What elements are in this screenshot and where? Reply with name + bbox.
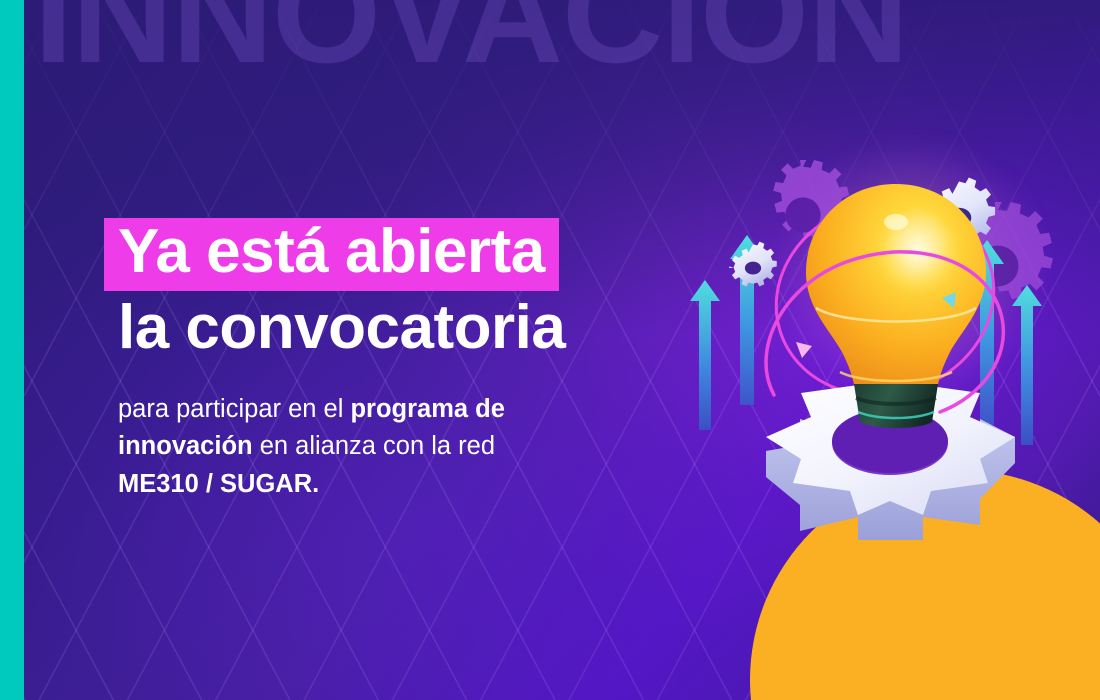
subtitle-bold-me310: ME310 / SUGAR. bbox=[118, 470, 319, 498]
innovation-illustration bbox=[690, 150, 1090, 550]
headline-line-2: la convocatoria bbox=[104, 295, 744, 361]
headline-line-1: Ya está abierta bbox=[118, 221, 545, 283]
headline-block: Ya está abierta la convocatoria para par… bbox=[104, 218, 744, 503]
background-word-innovacion: INNOVACIÓN bbox=[34, 0, 1100, 84]
teal-accent-stripe bbox=[0, 0, 24, 700]
orbit-ring-foreground bbox=[690, 150, 1090, 550]
subtitle-part-2: en alianza con la red bbox=[253, 432, 495, 460]
subtitle-text: para participar en el programa de innova… bbox=[104, 391, 574, 503]
promo-banner: INNOVACIÓN bbox=[0, 0, 1100, 700]
subtitle-part-1: para participar en el bbox=[118, 395, 350, 423]
headline-highlight-bar: Ya está abierta bbox=[104, 218, 559, 291]
